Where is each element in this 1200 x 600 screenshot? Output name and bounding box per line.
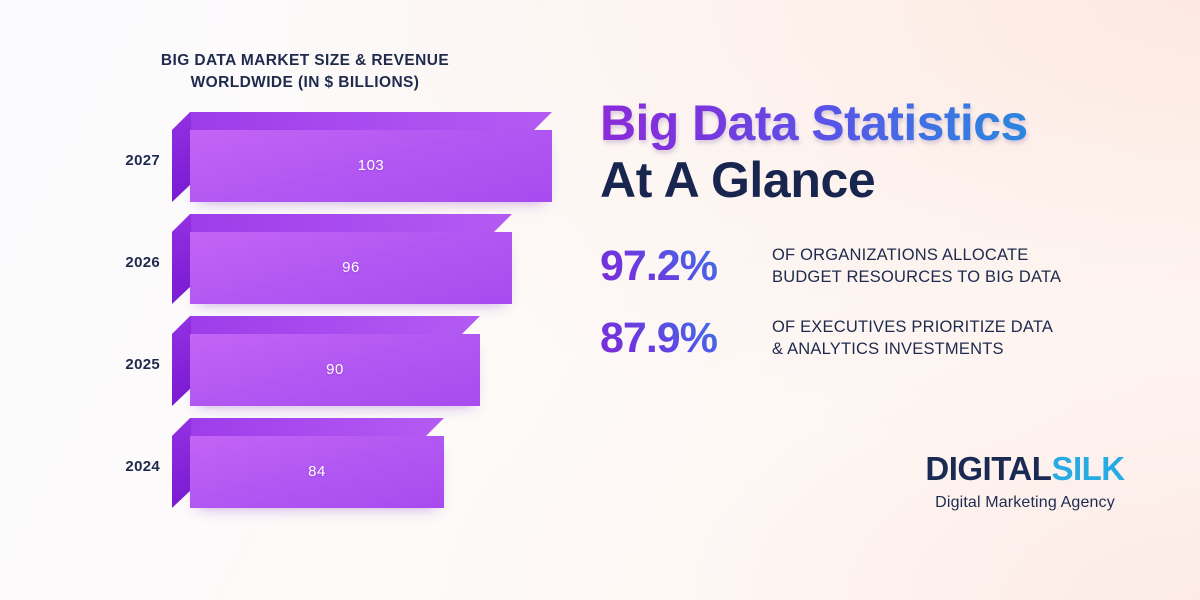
stat-description: OF EXECUTIVES PRIORITIZE DATA & ANALYTIC… (768, 317, 1053, 361)
stat-description-line2: & ANALYTICS INVESTMENTS (772, 340, 1004, 358)
bar-category-label: 2024 (60, 458, 160, 475)
headline-line1: Big Data Statistics (600, 98, 1028, 150)
bar-side-face (172, 316, 191, 406)
bar-side-face (172, 214, 191, 304)
headline-line2: At A Glance (600, 152, 1160, 208)
statistics-list: 97.2% OF ORGANIZATIONS ALLOCATE BUDGET R… (600, 245, 1160, 389)
bar-category-label: 2025 (60, 356, 160, 373)
bar-side-face (172, 418, 191, 508)
content-panel: Big Data Statistics At A Glance 97.2% OF… (598, 0, 1200, 600)
bar-2025: 90 (172, 316, 480, 406)
bar-top-face (172, 112, 552, 130)
stat-percentage: 87.9% (600, 317, 768, 361)
logo-tagline: Digital Marketing Agency (875, 494, 1175, 512)
bar-side-face (172, 112, 191, 202)
bar-category-label: 2026 (60, 254, 160, 271)
logo-word-silk: SILK (1051, 450, 1124, 487)
bar-top-face (172, 316, 480, 334)
bar-top-face (172, 214, 512, 232)
bar-2027: 103 (172, 112, 552, 202)
stat-item-1: 97.2% OF ORGANIZATIONS ALLOCATE BUDGET R… (600, 245, 1160, 289)
chart-title-line2: WORLDWIDE (IN $ BILLIONS) (191, 74, 420, 91)
stat-description-line1: OF EXECUTIVES PRIORITIZE DATA (772, 318, 1053, 336)
bar-top-face (172, 418, 444, 436)
bar-row: 2024 84 (0, 418, 585, 520)
bar-value-label: 90 (190, 334, 480, 406)
bar-row: 2026 96 (0, 214, 585, 316)
digital-silk-logo: DIGITALSILK Digital Marketing Agency (875, 452, 1175, 512)
bar-value-label: 96 (190, 232, 512, 304)
bar-category-label: 2027 (60, 152, 160, 169)
bar-2026: 96 (172, 214, 512, 304)
stat-percentage: 97.2% (600, 245, 768, 289)
bar-value-label: 103 (190, 130, 552, 202)
logo-wordmark: DIGITALSILK (875, 452, 1175, 485)
logo-word-digital: DIGITAL (925, 450, 1051, 487)
bar-row: 2027 103 (0, 112, 585, 214)
bar-chart: 2027 103 2026 96 2 (0, 112, 585, 520)
headline: Big Data Statistics At A Glance (600, 98, 1160, 208)
infographic-canvas: BIG DATA MARKET SIZE & REVENUE WORLDWIDE… (0, 0, 1200, 600)
chart-panel: BIG DATA MARKET SIZE & REVENUE WORLDWIDE… (0, 0, 585, 600)
bar-value-label: 84 (190, 436, 444, 508)
stat-description-line2: BUDGET RESOURCES TO BIG DATA (772, 268, 1061, 286)
bar-2024: 84 (172, 418, 444, 508)
chart-title: BIG DATA MARKET SIZE & REVENUE WORLDWIDE… (95, 50, 515, 94)
chart-title-line1: BIG DATA MARKET SIZE & REVENUE (161, 52, 449, 69)
stat-description: OF ORGANIZATIONS ALLOCATE BUDGET RESOURC… (768, 245, 1061, 289)
stat-description-line1: OF ORGANIZATIONS ALLOCATE (772, 246, 1029, 264)
bar-row: 2025 90 (0, 316, 585, 418)
stat-item-2: 87.9% OF EXECUTIVES PRIORITIZE DATA & AN… (600, 317, 1160, 361)
